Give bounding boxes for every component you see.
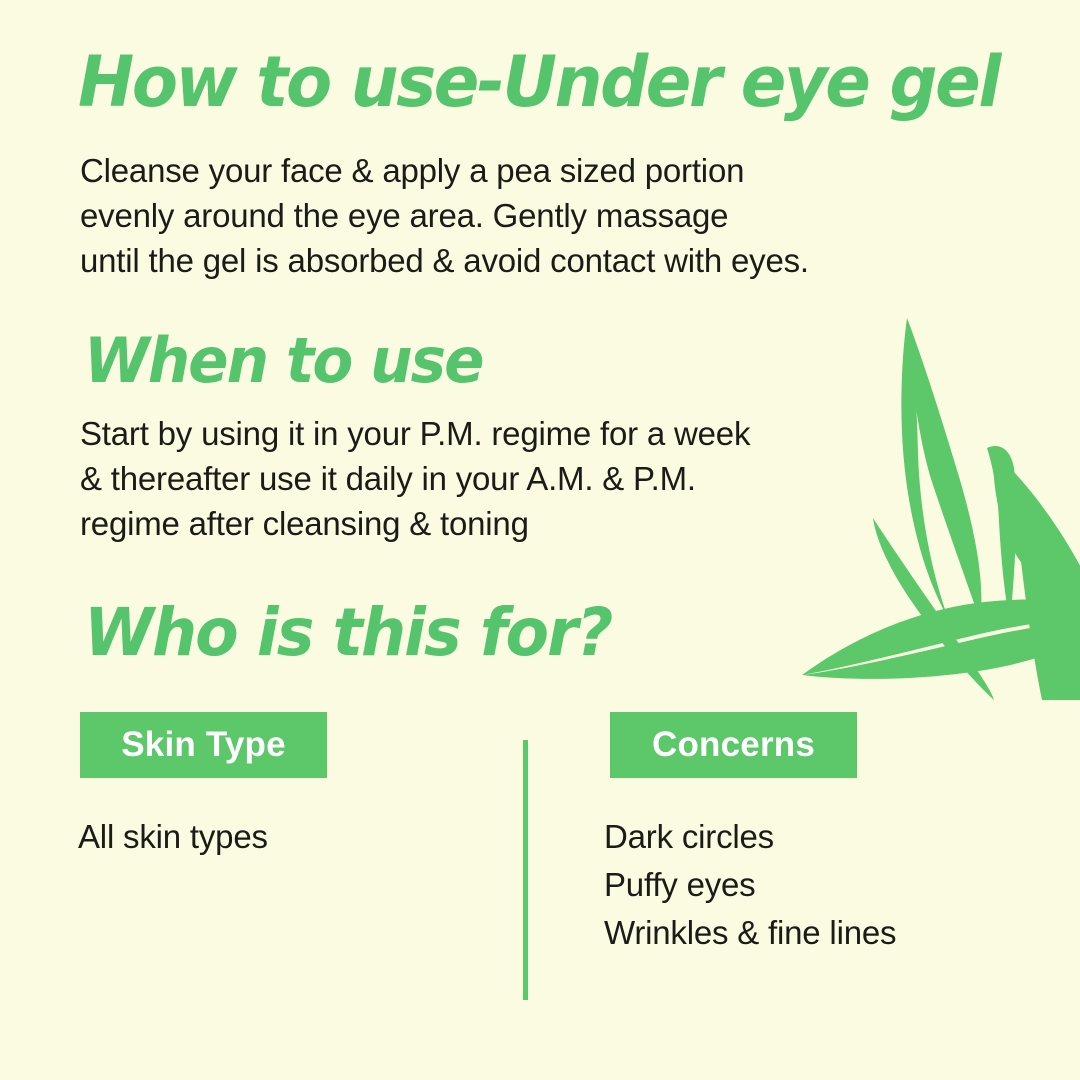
- when-to-use-paragraph: Start by using it in your P.M. regime fo…: [80, 411, 750, 546]
- concerns-list: Dark circles Puffy eyes Wrinkles & fine …: [604, 813, 896, 957]
- when-to-use-line: Start by using it in your P.M. regime fo…: [80, 411, 750, 456]
- skin-type-list: All skin types: [78, 813, 268, 861]
- how-to-use-paragraph: Cleanse your face & apply a pea sized po…: [80, 148, 809, 283]
- how-to-use-line: evenly around the eye area. Gently massa…: [80, 193, 809, 238]
- how-to-use-line: Cleanse your face & apply a pea sized po…: [80, 148, 809, 193]
- list-item: Wrinkles & fine lines: [604, 909, 896, 957]
- who-is-this-for-heading: Who is this for?: [84, 600, 611, 666]
- when-to-use-line: & thereafter use it daily in your A.M. &…: [80, 456, 750, 501]
- poster-canvas: How to use-Under eye gel Cleanse your fa…: [0, 0, 1080, 1080]
- concerns-badge: Concerns: [610, 712, 857, 778]
- list-item: Puffy eyes: [604, 861, 896, 909]
- list-item: All skin types: [78, 813, 268, 861]
- when-to-use-heading: When to use: [84, 330, 483, 392]
- how-to-use-line: until the gel is absorbed & avoid contac…: [80, 238, 809, 283]
- column-divider: [523, 740, 528, 1000]
- leaf-cluster-icon: [780, 300, 1080, 700]
- list-item: Dark circles: [604, 813, 896, 861]
- when-to-use-line: regime after cleansing & toning: [80, 501, 750, 546]
- skin-type-badge: Skin Type: [80, 712, 327, 778]
- page-title: How to use-Under eye gel: [78, 47, 999, 117]
